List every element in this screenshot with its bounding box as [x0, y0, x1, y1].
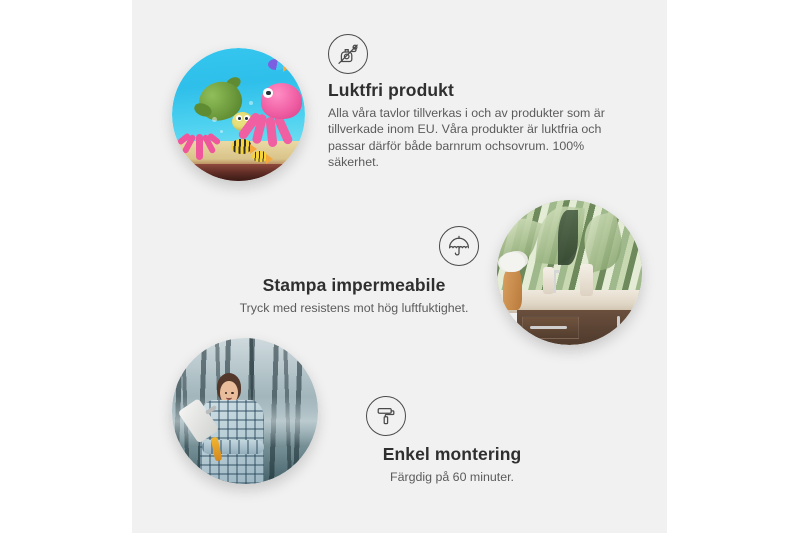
feature-title: Enkel montering	[317, 444, 587, 465]
octopus-body	[261, 83, 302, 119]
decorative-vase	[503, 267, 522, 311]
fish-illustration	[268, 59, 284, 70]
coral-illustration	[180, 120, 220, 160]
toiletry-bottle	[580, 264, 593, 296]
toiletry-bottle	[543, 267, 553, 295]
eye-left	[225, 392, 228, 394]
no-fragrance-icon	[328, 34, 368, 74]
bathroom-scene	[497, 200, 642, 345]
vanity-cabinet	[517, 310, 642, 345]
product-photo-bathroom-tropical-wallpaper[interactable]	[497, 200, 642, 345]
feature-waterproof: Stampa impermeabile Tryck med resistens …	[204, 226, 504, 316]
cabinet-handle	[634, 316, 637, 338]
feature-panel: Luktfri produkt Alla våra tavlor tillver…	[132, 0, 667, 533]
leaf-dark-accent	[558, 210, 578, 265]
ocean-dark-foreground	[172, 164, 305, 181]
feature-title: Stampa impermeabile	[204, 275, 504, 296]
white-flowers	[500, 252, 525, 272]
feature-title: Luktfri produkt	[328, 80, 628, 101]
umbrella-icon	[439, 226, 479, 266]
woman-forest-scene	[172, 338, 318, 484]
feature-description: Tryck med resistens mot hög luftfuktighe…	[204, 300, 504, 316]
fish-illustration	[252, 151, 267, 162]
feature-description: Färgdig på 60 minuter.	[317, 469, 587, 485]
drawer-handle	[530, 326, 567, 329]
eye-right	[231, 392, 234, 394]
product-photo-ocean-kids-mural[interactable]	[172, 48, 305, 181]
feature-description: Alla våra tavlor tillverkas i och av pro…	[328, 105, 628, 171]
woman-figure	[195, 373, 277, 484]
octopus-illustration	[246, 83, 302, 142]
feature-odour-free: Luktfri produkt Alla våra tavlor tillver…	[328, 34, 628, 171]
feature-easy-assembly: Enkel montering Färgdig på 60 minuter.	[317, 396, 587, 485]
ocean-scene	[172, 48, 305, 181]
page-root: Luktfri produkt Alla våra tavlor tillver…	[0, 0, 800, 533]
turtle-eye-left	[236, 115, 242, 121]
octopus-eye	[263, 88, 273, 97]
product-photo-woman-with-paint-roller[interactable]	[172, 338, 318, 484]
cabinet-handle	[617, 316, 620, 338]
paint-roller-icon	[366, 396, 406, 436]
fish-illustration	[231, 139, 251, 154]
